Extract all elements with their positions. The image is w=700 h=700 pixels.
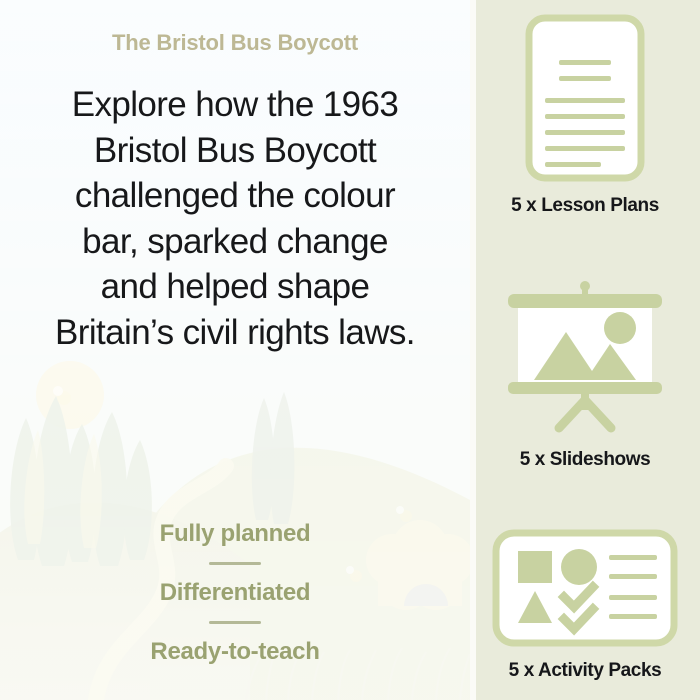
page-title: The Bristol Bus Boycott	[22, 30, 448, 56]
headline-line: bar, sparked change	[30, 219, 440, 265]
product-label: 5 x Lesson Plans	[511, 195, 659, 217]
feature-item: Differentiated	[160, 579, 311, 607]
headline-line: Explore how the 1963	[30, 82, 440, 128]
product-activity-packs: 5 x Activity Packs	[470, 529, 700, 682]
product-label: 5 x Slideshows	[520, 449, 651, 471]
product-label: 5 x Activity Packs	[509, 660, 662, 682]
activity-card-icon	[492, 529, 678, 652]
left-content: The Bristol Bus Boycott Explore how the …	[0, 0, 470, 700]
presentation-screen-icon	[490, 276, 680, 441]
document-icon	[525, 14, 645, 187]
feature-divider	[209, 621, 261, 624]
poster-canvas: The Bristol Bus Boycott Explore how the …	[0, 0, 700, 700]
feature-item: Fully planned	[160, 520, 311, 548]
feature-item: Ready-to-teach	[150, 638, 319, 666]
panel-divider	[470, 0, 476, 700]
left-panel: The Bristol Bus Boycott Explore how the …	[0, 0, 470, 700]
headline-line: Britain’s civil rights laws.	[30, 310, 440, 356]
headline-line: challenged the colour	[30, 173, 440, 219]
feature-list: Fully planned Differentiated Ready-to-te…	[22, 520, 448, 666]
product-slideshows: 5 x Slideshows	[470, 276, 700, 471]
products-panel: 5 x Lesson Plans	[470, 0, 700, 700]
product-lesson-plans: 5 x Lesson Plans	[470, 14, 700, 217]
headline-line: and helped shape	[30, 264, 440, 310]
headline: Explore how the 1963 Bristol Bus Boycott…	[22, 82, 448, 355]
feature-divider	[209, 562, 261, 565]
headline-line: Bristol Bus Boycott	[30, 128, 440, 174]
